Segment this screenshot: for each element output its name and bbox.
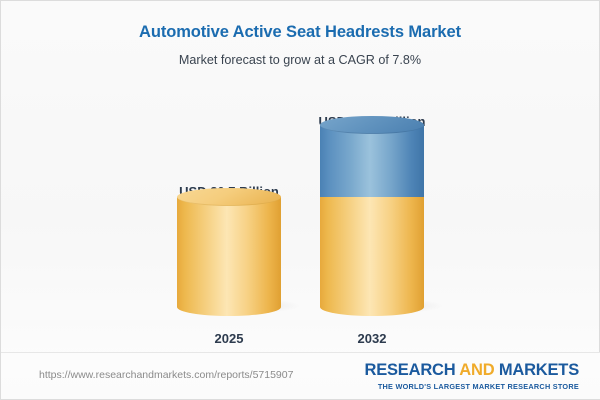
logo-word-and: AND xyxy=(459,361,494,379)
source-url[interactable]: https://www.researchandmarkets.com/repor… xyxy=(39,369,293,381)
chart-plot-area: USD 20.7 Billion 2025 USD 35.19 Billion xyxy=(1,81,600,346)
logo-tagline: THE WORLD'S LARGEST MARKET RESEARCH STOR… xyxy=(364,382,579,391)
bar-top-ellipse-2025 xyxy=(177,188,281,206)
brand-logo[interactable]: RESEARCH AND MARKETS THE WORLD'S LARGEST… xyxy=(364,361,579,391)
bar-cylinder-2032[interactable] xyxy=(320,125,424,307)
chart-subtitle: Market forecast to grow at a CAGR of 7.8… xyxy=(1,53,599,67)
bar-segment-base-2032 xyxy=(320,197,424,307)
x-axis-label-2032: 2032 xyxy=(274,331,470,346)
chart-header: Automotive Active Seat Headrests Market … xyxy=(1,1,599,67)
footer: https://www.researchandmarkets.com/repor… xyxy=(1,352,600,399)
bar-body-growth-2032 xyxy=(320,125,424,197)
logo-wordmark: RESEARCH AND MARKETS xyxy=(364,361,579,380)
bar-body-base-2032 xyxy=(320,197,424,307)
bar-segment-growth-2032 xyxy=(320,125,424,197)
bar-cylinder-2025[interactable] xyxy=(177,197,281,307)
bar-segment-base-2025 xyxy=(177,197,281,307)
logo-word-markets: MARKETS xyxy=(499,361,579,379)
bar-body-2025 xyxy=(177,197,281,307)
bar-top-ellipse-2032 xyxy=(320,116,424,134)
market-forecast-infographic: Automotive Active Seat Headrests Market … xyxy=(0,0,600,400)
logo-word-research: RESEARCH xyxy=(364,361,455,379)
chart-title: Automotive Active Seat Headrests Market xyxy=(1,23,599,42)
